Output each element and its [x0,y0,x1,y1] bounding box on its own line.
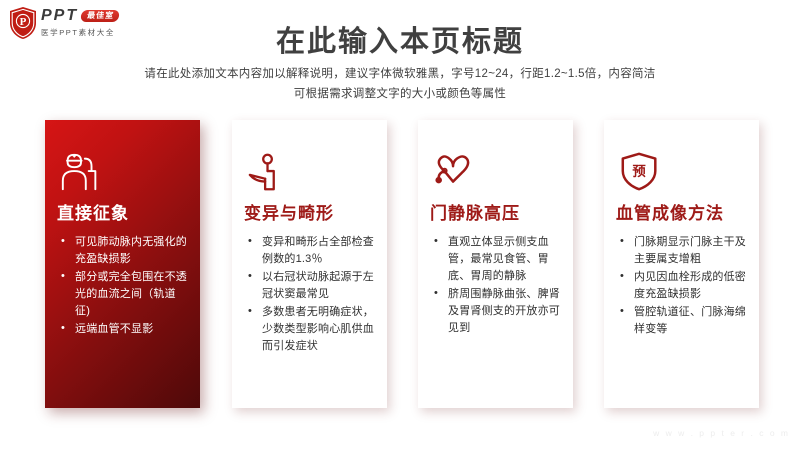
card-title: 血管成像方法 [616,199,749,224]
card-portal-hypertension[interactable]: 门静脉高压 直观立体显示侧支血管，最常见食管、胃底、胃周的静脉 脐周围静脉曲张、… [418,120,573,408]
card-bullet-list: 门脉期显示门脉主干及主要属支增粗 内见因血栓形成的低密度充盈缺损影 管腔轨道征、… [618,234,749,338]
page-title: 在此输入本页标题 [0,18,800,60]
card-bullet-list: 直观立体显示侧支血管，最常见食管、胃底、胃周的静脉 脐周围静脉曲张、脾肾及胃肾侧… [432,234,563,337]
list-item: 多数患者无明确症状，少数类型影响心肌供血而引发症状 [246,304,377,355]
card-angiography-method[interactable]: 预 血管成像方法 门脉期显示门脉主干及主要属支增粗 内见因血栓形成的低密度充盈缺… [604,120,759,408]
svg-text:预: 预 [632,164,646,179]
card-direct-signs[interactable]: 直接征象 可见肺动脉内无强化的充盈缺损影 部分或完全包围在不透光的血流之间（轨道… [45,120,200,408]
list-item: 脐周围静脉曲张、脾肾及胃肾侧支的开放亦可见到 [432,286,563,337]
card-row: 直接征象 可见肺动脉内无强化的充盈缺损影 部分或完全包围在不透光的血流之间（轨道… [0,120,800,410]
card-bullet-list: 可见肺动脉内无强化的充盈缺损影 部分或完全包围在不透光的血流之间（轨道征) 远端… [59,234,190,338]
card-title: 变异与畸形 [244,199,377,224]
list-item: 变异和畸形占全部检查例数的1.3％ [246,234,377,268]
watermark: w w w . p p t e r . c o m [653,428,790,438]
shield-prevention-icon: 预 [618,150,749,196]
card-title: 直接征象 [57,199,190,224]
list-item: 可见肺动脉内无强化的充盈缺损影 [59,234,190,268]
patient-in-chair-icon [246,150,377,196]
list-item: 以右冠状动脉起源于左冠状窦最常见 [246,269,377,303]
nurse-figure-icon [59,150,190,196]
list-item: 门脉期显示门脉主干及主要属支增粗 [618,234,749,268]
list-item: 内见因血栓形成的低密度充盈缺损影 [618,269,749,303]
list-item: 部分或完全包围在不透光的血流之间（轨道征) [59,269,190,320]
card-variation-deformity[interactable]: 变异与畸形 变异和畸形占全部检查例数的1.3％ 以右冠状动脉起源于左冠状窦最常见… [232,120,387,408]
heart-stethoscope-icon [432,150,563,196]
card-bullet-list: 变异和畸形占全部检查例数的1.3％ 以右冠状动脉起源于左冠状窦最常见 多数患者无… [246,234,377,355]
card-title: 门静脉高压 [430,199,563,224]
list-item: 直观立体显示侧支血管，最常见食管、胃底、胃周的静脉 [432,234,563,285]
subtitle-line-1: 请在此处添加文本内容加以解释说明，建议字体微软雅黑，字号12~24，行距1.2~… [0,64,800,84]
list-item: 管腔轨道征、门脉海绵样变等 [618,304,749,338]
subtitle-line-2: 可根据需求调整文字的大小或颜色等属性 [0,84,800,104]
page-subtitle: 请在此处添加文本内容加以解释说明，建议字体微软雅黑，字号12~24，行距1.2~… [0,64,800,104]
list-item: 远端血管不显影 [59,321,190,338]
slide-canvas: P PPT 最佳室 医学PPT素材大全 在此输入本页标题 请在此处添加文本内容加… [0,0,800,450]
